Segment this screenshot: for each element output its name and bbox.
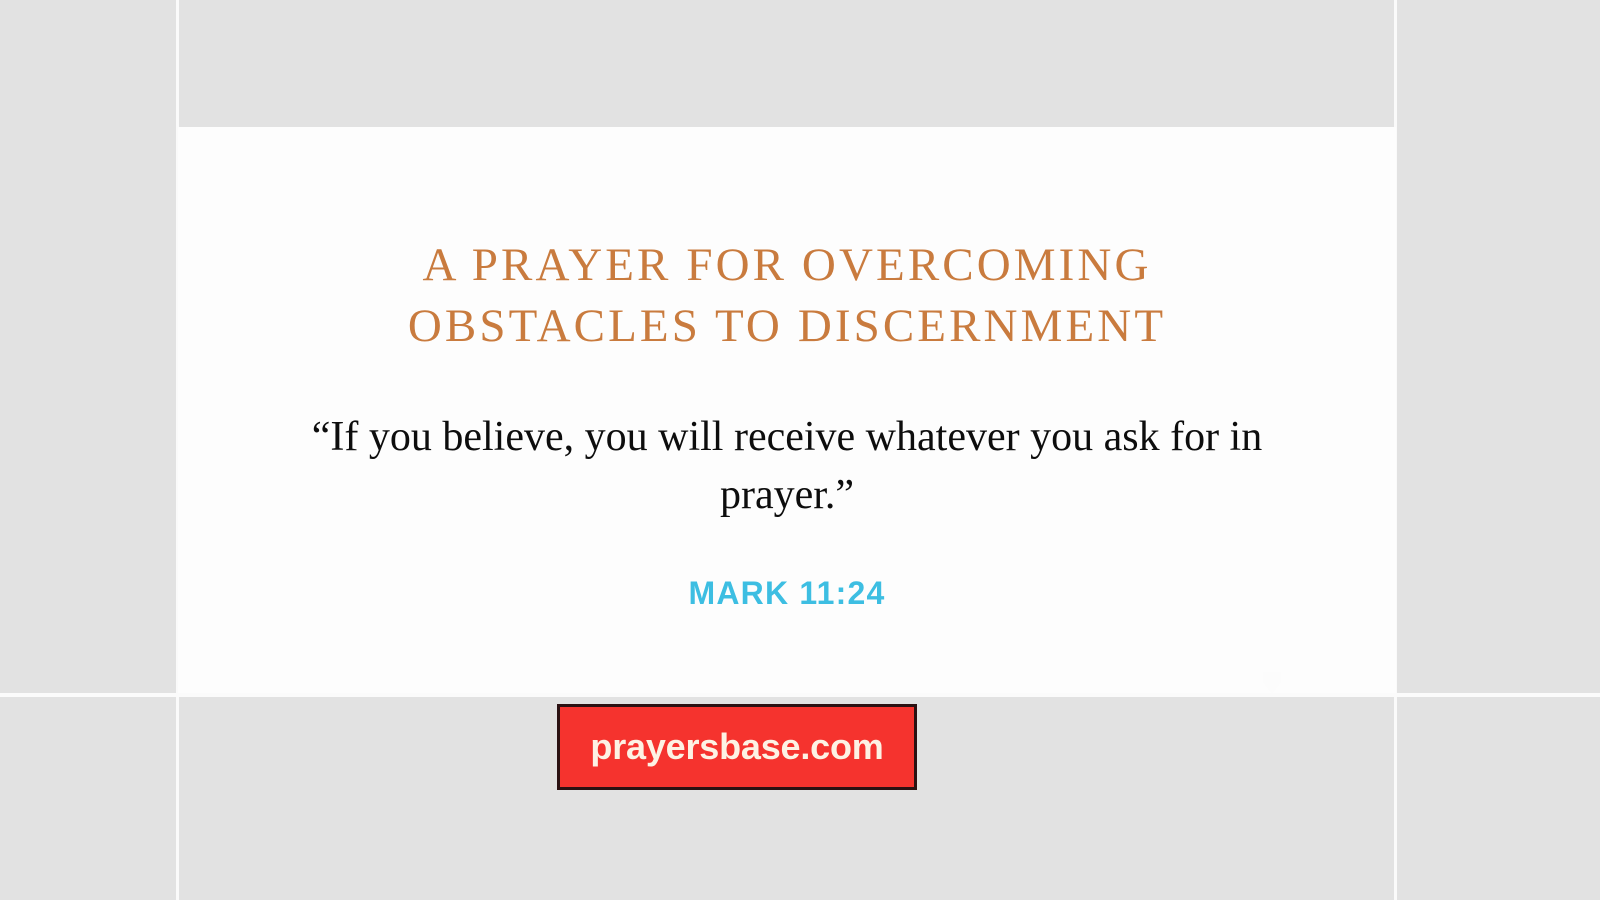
scripture-quote: “If you believe, you will receive whatev…: [297, 408, 1277, 524]
slide-canvas: A PRAYER FOR OVERCOMING OBSTACLES TO DIS…: [0, 0, 1600, 900]
guide-line-horizontal: [0, 693, 1600, 697]
verse-card-inner: A PRAYER FOR OVERCOMING OBSTACLES TO DIS…: [178, 127, 1396, 693]
page-title: A PRAYER FOR OVERCOMING OBSTACLES TO DIS…: [257, 235, 1317, 357]
watermark-badge-label: prayersbase.com: [590, 729, 883, 765]
watermark-badge[interactable]: prayersbase.com: [557, 704, 917, 790]
verse-card: A PRAYER FOR OVERCOMING OBSTACLES TO DIS…: [178, 127, 1396, 693]
scripture-reference: MARK 11:24: [437, 575, 1137, 612]
